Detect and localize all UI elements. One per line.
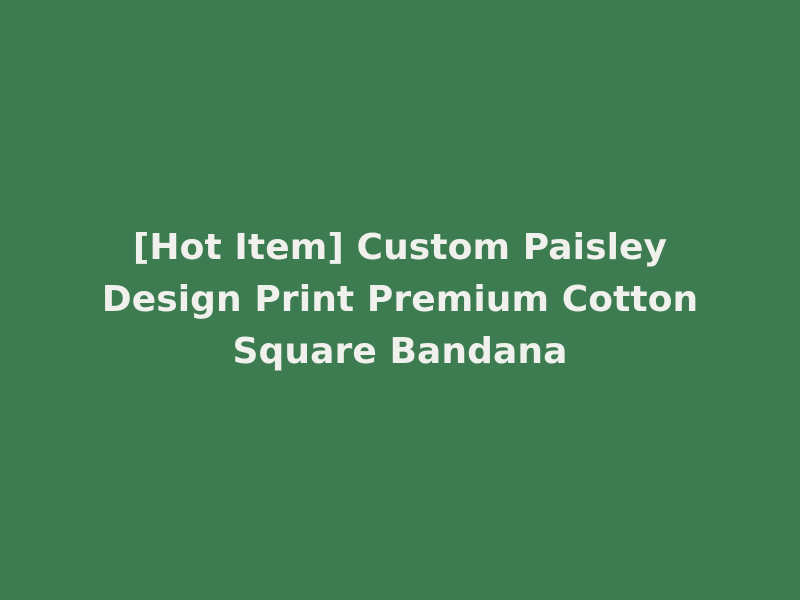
- placeholder-image-canvas: [Hot Item] Custom Paisley Design Print P…: [0, 0, 800, 600]
- product-title-caption: [Hot Item] Custom Paisley Design Print P…: [80, 222, 720, 378]
- caption-block: [Hot Item] Custom Paisley Design Print P…: [70, 222, 730, 378]
